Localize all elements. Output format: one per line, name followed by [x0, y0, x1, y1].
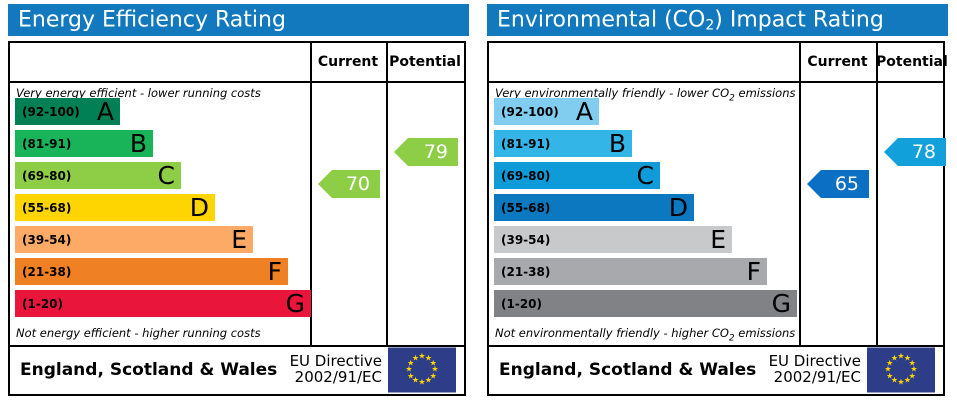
co2-band-d-range: (55-68) — [501, 201, 550, 215]
energy-band-g: (1-20) G — [15, 290, 311, 317]
co2-band-f: (21-38) F — [494, 258, 767, 285]
energy-footer-country: England, Scotland & Wales — [20, 360, 277, 380]
energy-chart-title: Energy Efficiency Rating — [18, 8, 286, 33]
energy-band-a: (92-100) A — [15, 98, 120, 125]
energy-band-g-range: (1-20) — [22, 297, 63, 311]
co2-chart-title-suffix: ) Impact Rating — [714, 8, 884, 33]
energy-header-divider — [10, 81, 464, 83]
co2-band-d-letter: D — [669, 195, 688, 220]
co2-chart-title-bar: Environmental (CO2) Impact Rating — [487, 4, 948, 36]
energy-chart-title-bar: Energy Efficiency Rating — [8, 4, 469, 36]
co2-band-g: (1-20) G — [494, 290, 797, 317]
epc-charts-page: Energy Efficiency Rating Current Potenti… — [0, 0, 957, 404]
energy-band-e: (39-54) E — [15, 226, 253, 253]
co2-chart-title-subscript: 2 — [705, 18, 714, 34]
energy-band-d-letter: D — [190, 195, 209, 220]
energy-band-list: (92-100) A (81-91) B (69-80) C (55-68) D… — [10, 98, 464, 320]
co2-band-a: (92-100) A — [494, 98, 599, 125]
co2-footer-directive: EU Directive 2002/91/EC — [769, 353, 861, 387]
co2-band-c-letter: C — [637, 163, 654, 188]
energy-band-d-range: (55-68) — [22, 201, 71, 215]
co2-band-e-letter: E — [710, 227, 726, 252]
energy-caption-bottom: Not energy efficient - higher running co… — [16, 326, 261, 340]
energy-footer-directive-line1: EU Directive — [290, 353, 382, 370]
co2-current-column-header: Current — [799, 43, 876, 81]
co2-band-e: (39-54) E — [494, 226, 732, 253]
co2-chart-table: Current Potential Very environmentally f… — [487, 41, 945, 396]
energy-band-c-letter: C — [158, 163, 175, 188]
energy-footer-directive-line2: 2002/91/EC — [290, 370, 382, 387]
co2-band-list: (92-100) A (81-91) B (69-80) C (55-68) D… — [489, 98, 943, 320]
energy-footer: England, Scotland & Wales EU Directive 2… — [10, 345, 464, 394]
co2-band-d: (55-68) D — [494, 194, 694, 221]
eu-flag-icon: ★★★★★★★★★★★★ — [388, 347, 456, 392]
co2-caption-bottom: Not environmentally friendly - higher CO… — [495, 326, 795, 343]
energy-band-f-range: (21-38) — [22, 265, 71, 279]
co2-chart-title: Environmental (CO2) Impact Rating — [497, 8, 884, 33]
co2-band-f-letter: F — [747, 259, 761, 284]
co2-band-g-range: (1-20) — [501, 297, 542, 311]
co2-caption-bottom-prefix: Not environmentally friendly - higher CO — [495, 326, 729, 340]
energy-footer-directive: EU Directive 2002/91/EC — [290, 353, 382, 387]
energy-band-e-letter: E — [231, 227, 247, 252]
energy-band-b: (81-91) B — [15, 130, 153, 157]
energy-band-c-range: (69-80) — [22, 169, 71, 183]
co2-band-a-letter: A — [576, 99, 593, 124]
energy-band-b-range: (81-91) — [22, 137, 71, 151]
co2-band-c: (69-80) C — [494, 162, 660, 189]
eu-star-icon: ★ — [412, 354, 420, 362]
co2-potential-column-header: Potential — [876, 43, 943, 81]
energy-band-e-range: (39-54) — [22, 233, 71, 247]
co2-caption-bottom-suffix: emissions — [735, 326, 796, 340]
co2-band-c-range: (69-80) — [501, 169, 550, 183]
energy-band-b-letter: B — [130, 131, 147, 156]
energy-band-f: (21-38) F — [15, 258, 288, 285]
co2-band-g-letter: G — [772, 291, 791, 316]
energy-band-c: (69-80) C — [15, 162, 181, 189]
co2-footer-directive-line2: 2002/91/EC — [769, 370, 861, 387]
energy-band-g-letter: G — [286, 291, 305, 316]
energy-band-a-letter: A — [97, 99, 114, 124]
co2-footer-country: England, Scotland & Wales — [499, 360, 756, 380]
co2-band-a-range: (92-100) — [501, 105, 559, 119]
energy-band-f-letter: F — [268, 259, 282, 284]
co2-band-b-letter: B — [609, 131, 626, 156]
energy-current-column-header: Current — [310, 43, 386, 81]
energy-chart-table: Current Potential Very energy efficient … — [8, 41, 466, 396]
co2-footer-directive-line1: EU Directive — [769, 353, 861, 370]
co2-band-b: (81-91) B — [494, 130, 632, 157]
co2-band-b-range: (81-91) — [501, 137, 550, 151]
environmental-co2-impact-rating-chart: Environmental (CO2) Impact Rating Curren… — [479, 0, 949, 404]
co2-footer: England, Scotland & Wales EU Directive 2… — [489, 345, 943, 394]
energy-potential-column-header: Potential — [386, 43, 464, 81]
energy-band-d: (55-68) D — [15, 194, 215, 221]
co2-band-e-range: (39-54) — [501, 233, 550, 247]
eu-star-icon: ★ — [891, 354, 899, 362]
energy-efficiency-rating-chart: Energy Efficiency Rating Current Potenti… — [0, 0, 470, 404]
eu-flag-icon: ★★★★★★★★★★★★ — [867, 347, 935, 392]
energy-band-a-range: (92-100) — [22, 105, 80, 119]
co2-chart-title-prefix: Environmental (CO — [497, 8, 705, 33]
co2-header-divider — [489, 81, 943, 83]
co2-band-f-range: (21-38) — [501, 265, 550, 279]
